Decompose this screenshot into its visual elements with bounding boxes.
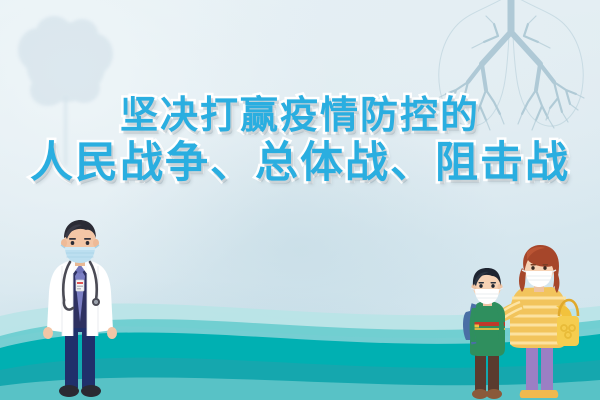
child-face-mask	[475, 289, 499, 304]
mother-eye-right	[543, 266, 546, 270]
poster-canvas: 坚决打赢疫情防控的 人民战争、总体战、阻击战	[0, 0, 600, 400]
mother-face-mask	[526, 271, 552, 287]
child-trousers-left	[475, 352, 486, 392]
doctor-coat-left-sleeve	[47, 264, 62, 332]
child-shoe-right	[486, 389, 502, 399]
doctor-coat-right-sleeve	[98, 264, 113, 332]
mother-shoe-left	[520, 390, 540, 398]
child-shoe-left	[472, 389, 488, 399]
title-line-2: 人民战争、总体战、阻击战	[0, 142, 600, 185]
mother-and-child-figure	[460, 244, 596, 400]
child-figure	[463, 268, 505, 399]
child-eye-right	[491, 284, 494, 288]
poster-title: 坚决打赢疫情防控的 人民战争、总体战、阻击战	[0, 96, 600, 185]
mother-eye-left	[531, 266, 534, 270]
child-eye-left	[479, 284, 482, 288]
doctor-shoe-left	[59, 385, 79, 397]
doctor-hand-left	[43, 327, 53, 339]
doctor-hand-right	[107, 327, 117, 339]
mother-shoe-right	[539, 390, 558, 398]
doctor-eye-left	[71, 241, 75, 245]
doctor-figure	[32, 214, 128, 400]
child-trousers-right	[488, 352, 499, 392]
doctor-shoe-right	[81, 385, 101, 397]
title-line-1: 坚决打赢疫情防控的	[0, 96, 600, 134]
doctor-eye-right	[86, 241, 90, 245]
